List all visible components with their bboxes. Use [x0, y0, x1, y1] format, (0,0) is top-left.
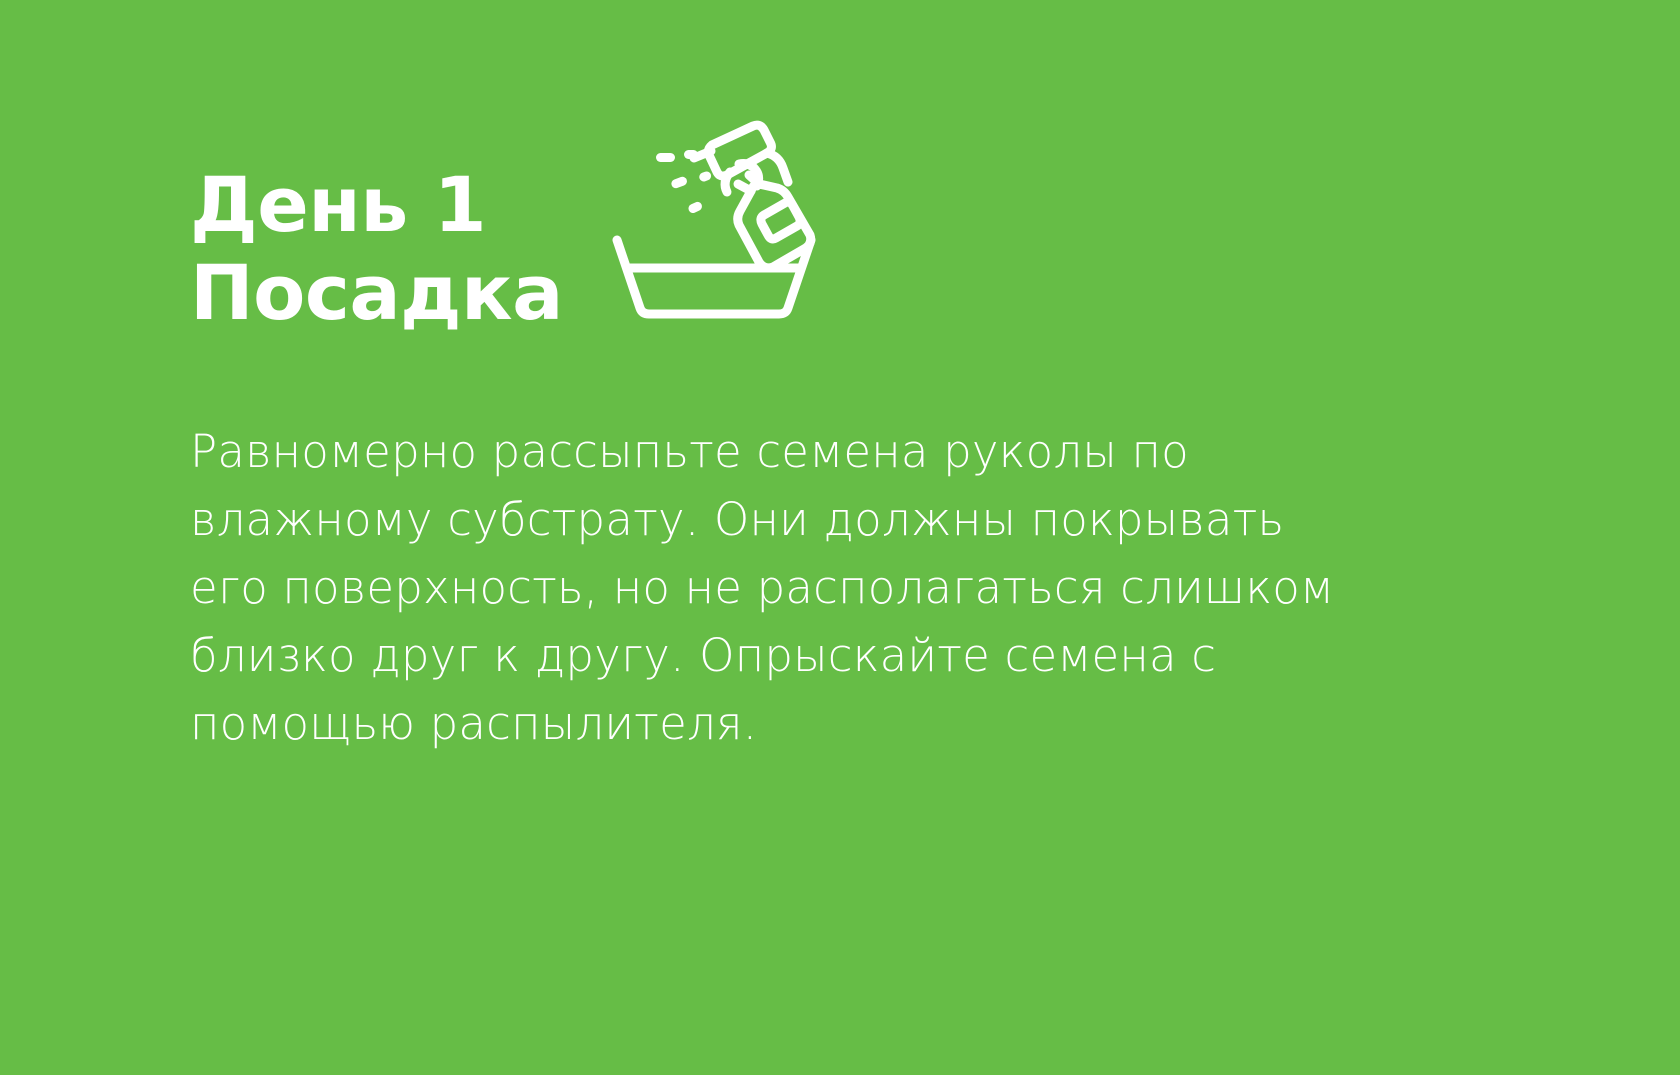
spray-bottle-over-tray-icon: [599, 112, 829, 331]
heading-row: День 1 Посадка: [190, 112, 950, 337]
paragraph-line: влажному субстрату. Они должны покрывать: [190, 486, 1460, 554]
body-paragraph: Равномерно рассыпьте семена руколы по вл…: [190, 418, 1460, 758]
heading-block: День 1 Посадка: [190, 112, 950, 337]
paragraph-line: Равномерно рассыпьте семена руколы по: [190, 418, 1460, 486]
page-title: День 1 Посадка: [190, 161, 563, 337]
paragraph-line: его поверхность, но не располагаться сли…: [190, 554, 1460, 622]
slide-root: День 1 Посадка: [0, 0, 1680, 1075]
heading-line-step: Посадка: [190, 249, 563, 337]
paragraph-line: близко друг к другу. Опрыскайте семена с: [190, 622, 1460, 690]
paragraph-line: помощью распылителя.: [190, 690, 1460, 758]
heading-line-day: День 1: [190, 161, 563, 249]
